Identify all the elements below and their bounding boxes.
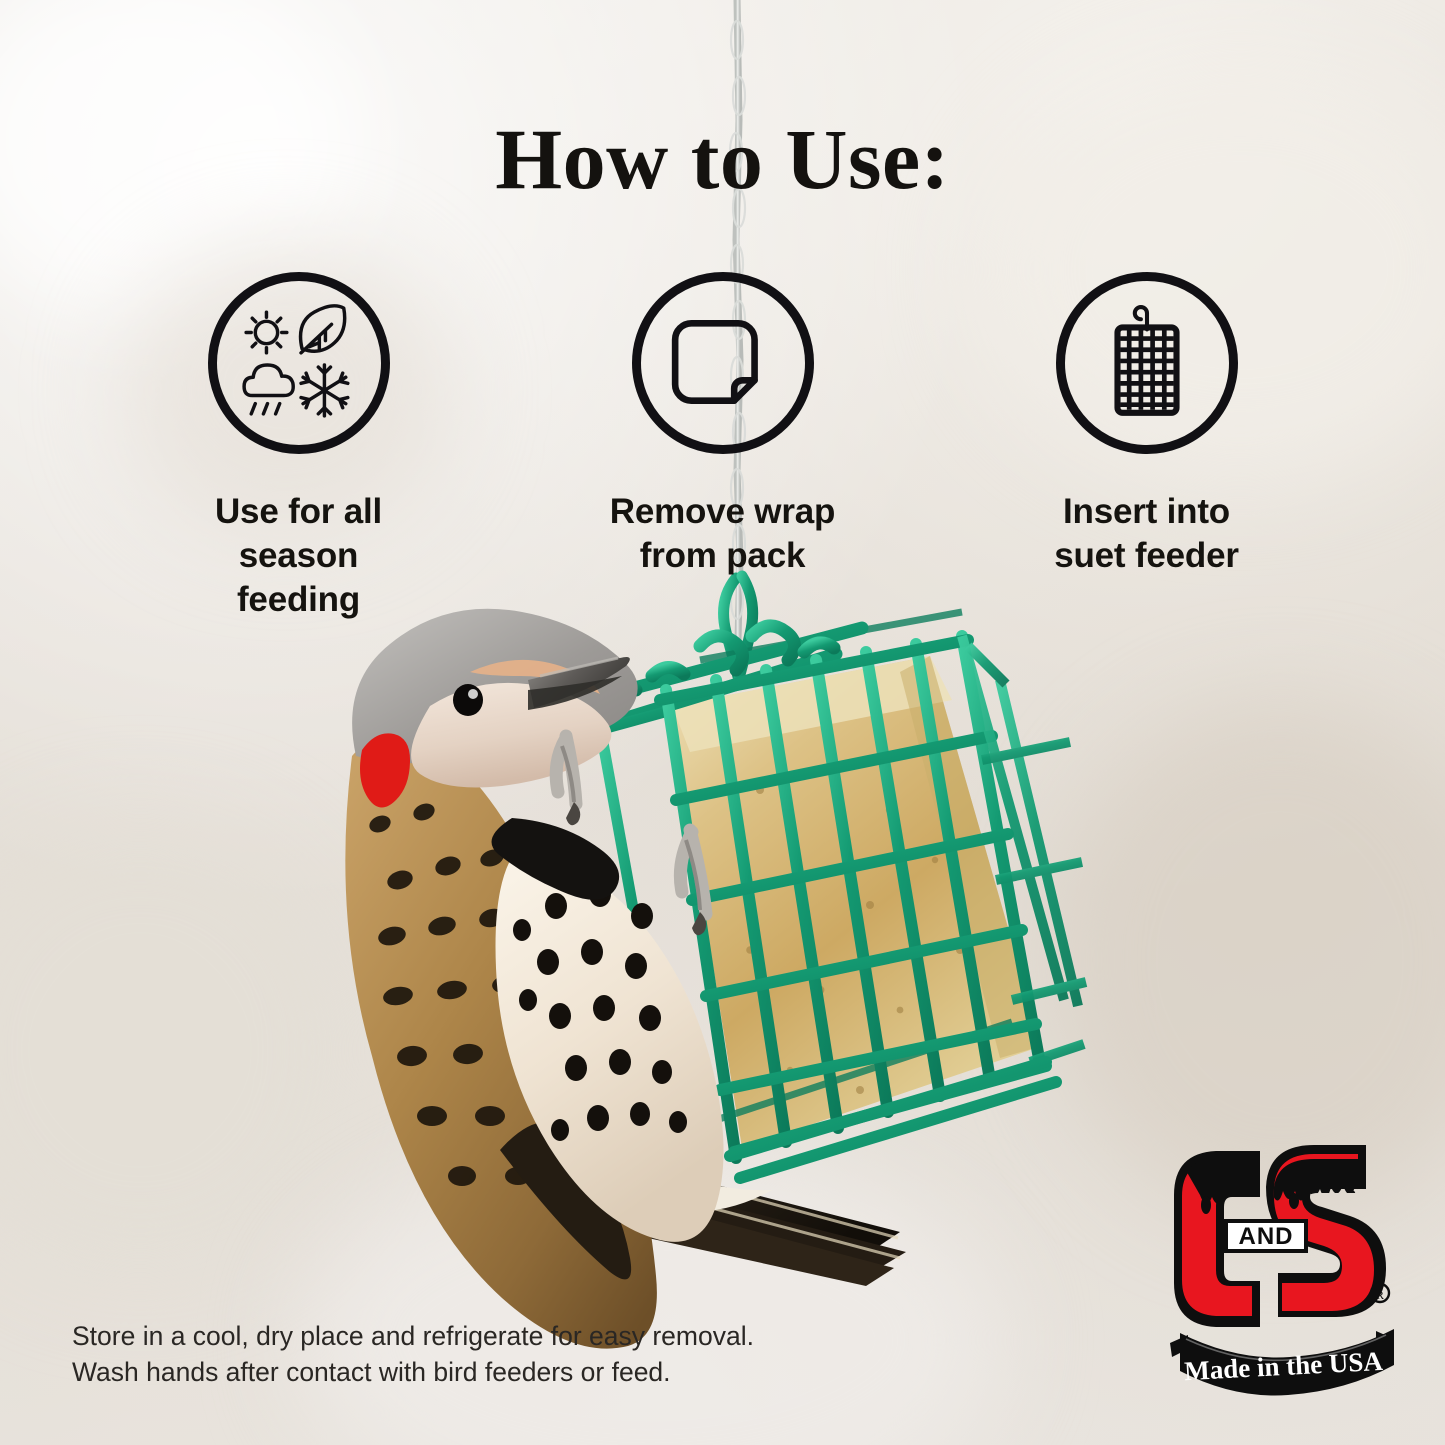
step-icon-circle xyxy=(208,272,390,454)
logo-and-text: AND xyxy=(1239,1223,1294,1250)
made-in-usa-banner: Made in the USA xyxy=(1170,1329,1394,1396)
breast-spots xyxy=(513,881,687,1141)
cage-left-face xyxy=(548,710,672,1124)
storage-line-2: Wash hands after contact with bird feede… xyxy=(72,1354,772,1390)
wire-mesh-grid xyxy=(1117,327,1176,412)
bird-tail xyxy=(600,1160,906,1286)
wrapper-peel-icon xyxy=(667,307,779,419)
leaf-icon xyxy=(300,306,344,353)
red-nape-crescent xyxy=(360,733,410,807)
cage-front-grid xyxy=(660,636,1046,1158)
step-label: Use for all season feeding xyxy=(174,490,424,622)
rain-cloud-icon xyxy=(244,365,293,414)
bg-blotch-3 xyxy=(1050,700,1445,1220)
step-all-season-feeding: Use for all season feeding xyxy=(174,272,424,622)
rounded-square-wrapper xyxy=(675,323,754,400)
bg-blotch-4 xyxy=(0,820,360,1280)
step-label: Insert into suet feeder xyxy=(1054,490,1239,578)
logo-r-glyph: R xyxy=(1376,1288,1384,1302)
step-icon-circle xyxy=(1056,272,1238,454)
cage-top-rim xyxy=(548,626,862,742)
logo-and-box: AND xyxy=(1224,1219,1308,1253)
storage-line-1: Store in a cool, dry place and refrigera… xyxy=(72,1318,772,1354)
wing-barring xyxy=(367,800,589,1186)
suet-cake xyxy=(672,656,1042,1148)
snowflake-icon xyxy=(301,365,348,416)
step-remove-wrap: Remove wrap from pack xyxy=(598,272,848,622)
c-and-s-logo: AND R Made in the USA xyxy=(1166,1143,1398,1401)
cage-right-face xyxy=(962,636,1086,1062)
step-label: Remove wrap from pack xyxy=(610,490,835,578)
step-insert-suet-feeder: Insert into suet feeder xyxy=(1022,272,1272,622)
how-to-use-steps: Use for all season feeding Remove wrap f… xyxy=(0,272,1445,622)
bg-blotch-5 xyxy=(300,1150,1000,1445)
step-icon-circle xyxy=(632,272,814,454)
bird-eye xyxy=(453,684,483,716)
bird-feet xyxy=(556,736,706,914)
page-title: How to Use: xyxy=(0,116,1445,202)
infographic-canvas: How to Use: xyxy=(0,0,1445,1445)
suet-cage-feeder-icon xyxy=(1091,305,1203,421)
sun-icon xyxy=(246,312,287,353)
northern-flicker-bird xyxy=(345,609,906,1349)
storage-instructions: Store in a cool, dry place and refrigera… xyxy=(72,1318,772,1391)
suet-cage-feeder xyxy=(548,612,1086,1178)
four-seasons-icon xyxy=(238,302,360,424)
